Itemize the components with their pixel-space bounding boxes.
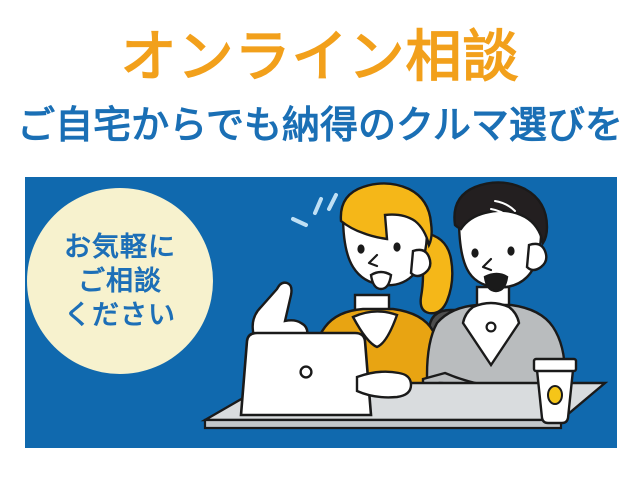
woman-ear <box>411 250 430 276</box>
woman-hand-keyboard <box>357 372 411 398</box>
man-ear <box>527 244 546 270</box>
badge-line-3: ください <box>64 298 176 332</box>
man-shirt-button <box>487 323 496 332</box>
man-eye-left <box>471 248 478 257</box>
badge-line-1: お気軽に <box>64 230 176 264</box>
man-eye-right <box>507 246 514 255</box>
consultation-badge: お気軽に ご相談 ください <box>27 188 213 374</box>
woman-eye-left <box>357 244 364 253</box>
woman-eye-right <box>393 242 400 251</box>
online-consultation-banner: オンライン相談 ご自宅からでも納得のクルマ選びを <box>0 0 640 480</box>
man-mouth <box>485 274 507 291</box>
headline-area: オンライン相談 ご自宅からでも納得のクルマ選びを <box>0 0 640 172</box>
page-title: オンライン相談 <box>0 26 640 88</box>
coffee-cup-lid <box>534 359 576 371</box>
desk-edge <box>205 420 561 428</box>
badge-line-2: ご相談 <box>78 264 162 298</box>
sparkle-icon <box>293 195 336 225</box>
laptop-logo-icon <box>301 367 312 378</box>
coffee-cup-logo-icon <box>548 386 562 404</box>
illustration-panel: お気軽に ご相談 ください <box>25 177 617 448</box>
woman-mouth <box>371 272 391 289</box>
page-subtitle: ご自宅からでも納得のクルマ選びを <box>0 103 640 149</box>
